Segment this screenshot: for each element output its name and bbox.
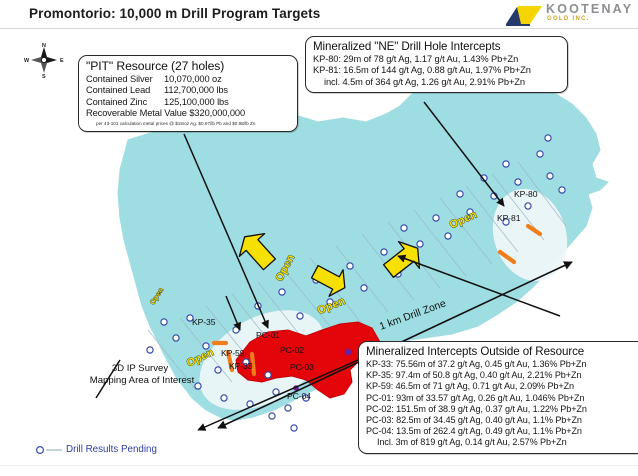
logo-subtext: GOLD INC. [547, 16, 590, 22]
hole-label-pc-03: PC-03 [290, 362, 314, 372]
outside-line-pc02: PC-02: 151.5m of 38.9 g/t Ag, 0.37 g/t A… [366, 404, 638, 415]
page-title: Promontorio: 10,000 m Drill Program Targ… [29, 6, 320, 21]
ne-intercepts-callout: Mineralized "NE" Drill Hole Intercepts K… [305, 36, 568, 93]
pit-row-lead-label: Contained Lead [86, 85, 164, 96]
pit-row-zinc-value: 125,100,000 lbs [164, 97, 229, 108]
compass-east-label: E [60, 58, 64, 64]
pit-recoverable-value: Recoverable Metal Value $320,000,000 [86, 108, 290, 119]
hole-label-pc-04: PC-04 [287, 391, 311, 401]
compass-rose-icon [31, 47, 57, 73]
outside-resource-title: Mineralized Intercepts Outside of Resour… [366, 345, 638, 358]
pit-row-lead-value: 112,700,000 lbs [164, 85, 228, 96]
pit-marker-point [345, 349, 352, 356]
ne-line-kp80: KP-80: 29m of 78 g/t Ag, 1.17 g/t Au, 1.… [313, 54, 560, 65]
legend-symbol [37, 447, 62, 454]
hole-label-kp-35: KP-35 [192, 317, 215, 327]
logo-mark-icon [504, 4, 544, 26]
survey-label-line2: Mapping Area of Interest [62, 375, 222, 388]
ne-line-incl: incl. 4.5m of 364 g/t Ag, 1.26 g/t Au, 2… [313, 77, 560, 88]
ne-line-kp81: KP-81: 16.5m of 144 g/t Ag, 0.88 g/t Au,… [313, 65, 560, 76]
pit-row-silver: Contained Silver 10,070,000 oz [86, 74, 290, 85]
compass-north-label: N [42, 43, 46, 49]
outside-resource-callout: Mineralized Intercepts Outside of Resour… [358, 341, 638, 454]
pit-resource-title: "PIT" Resource (27 holes) [86, 59, 290, 73]
outside-line-pc01: PC-01: 93m of 33.57 g/t Ag, 0.26 g/t Au,… [366, 393, 638, 404]
header-divider [0, 28, 638, 29]
pit-row-zinc-label: Contained Zinc [86, 97, 164, 108]
hole-label-kp-59: KP-59 [221, 348, 244, 358]
hole-label-kp-80: KP-80 [514, 189, 537, 199]
outside-line-kp33: KP-33: 75.56m of 37.2 g/t Ag, 0.45 g/t A… [366, 359, 638, 370]
kootenay-logo: KOOTENAY GOLD INC. [504, 2, 632, 28]
pit-resource-callout: "PIT" Resource (27 holes) Contained Silv… [78, 55, 298, 132]
hole-label-pc-02: PC-02 [280, 345, 304, 355]
pit-footnote: per 43-101 calculation metal prices @ $1… [86, 120, 290, 127]
pit-row-silver-value: 10,070,000 oz [164, 74, 222, 85]
outside-line-pc03: PC-03: 82.5m of 34.45 g/t Ag, 0.40 g/t A… [366, 415, 638, 426]
ne-intercepts-title: Mineralized "NE" Drill Hole Intercepts [313, 40, 560, 53]
outside-line-incl: Incl. 3m of 819 g/t Ag, 0.14 g/t Au, 2.5… [366, 437, 638, 448]
compass-west-label: W [24, 58, 29, 64]
outside-line-kp35: KP-35: 97.4m of 50.8 g/t Ag, 0.40 g/t Au… [366, 370, 638, 381]
pit-row-lead: Contained Lead 112,700,000 lbs [86, 85, 290, 96]
pit-row-silver-label: Contained Silver [86, 74, 164, 85]
pit-row-zinc: Contained Zinc 125,100,000 lbs [86, 97, 290, 108]
outside-line-pc04: PC-04: 13.5m of 262.4 g/t Ag, 0.49 g/t A… [366, 426, 638, 437]
survey-label-line1: 3D IP Survey [80, 363, 200, 376]
hole-label-kp-81: KP-81 [497, 213, 520, 223]
logo-wordmark: KOOTENAY [546, 3, 633, 16]
hole-label-kp-33: KP-33 [229, 361, 252, 371]
outside-line-kp59: KP-59: 46.5m of 71 g/t Ag, 0.71 g/t Au, … [366, 381, 638, 392]
slide-root: Promontorio: 10,000 m Drill Program Targ… [0, 0, 638, 476]
hole-label-pc-01: PC-01 [256, 330, 280, 340]
compass-south-label: S [42, 74, 46, 80]
legend-label: Drill Results Pending [66, 444, 157, 455]
